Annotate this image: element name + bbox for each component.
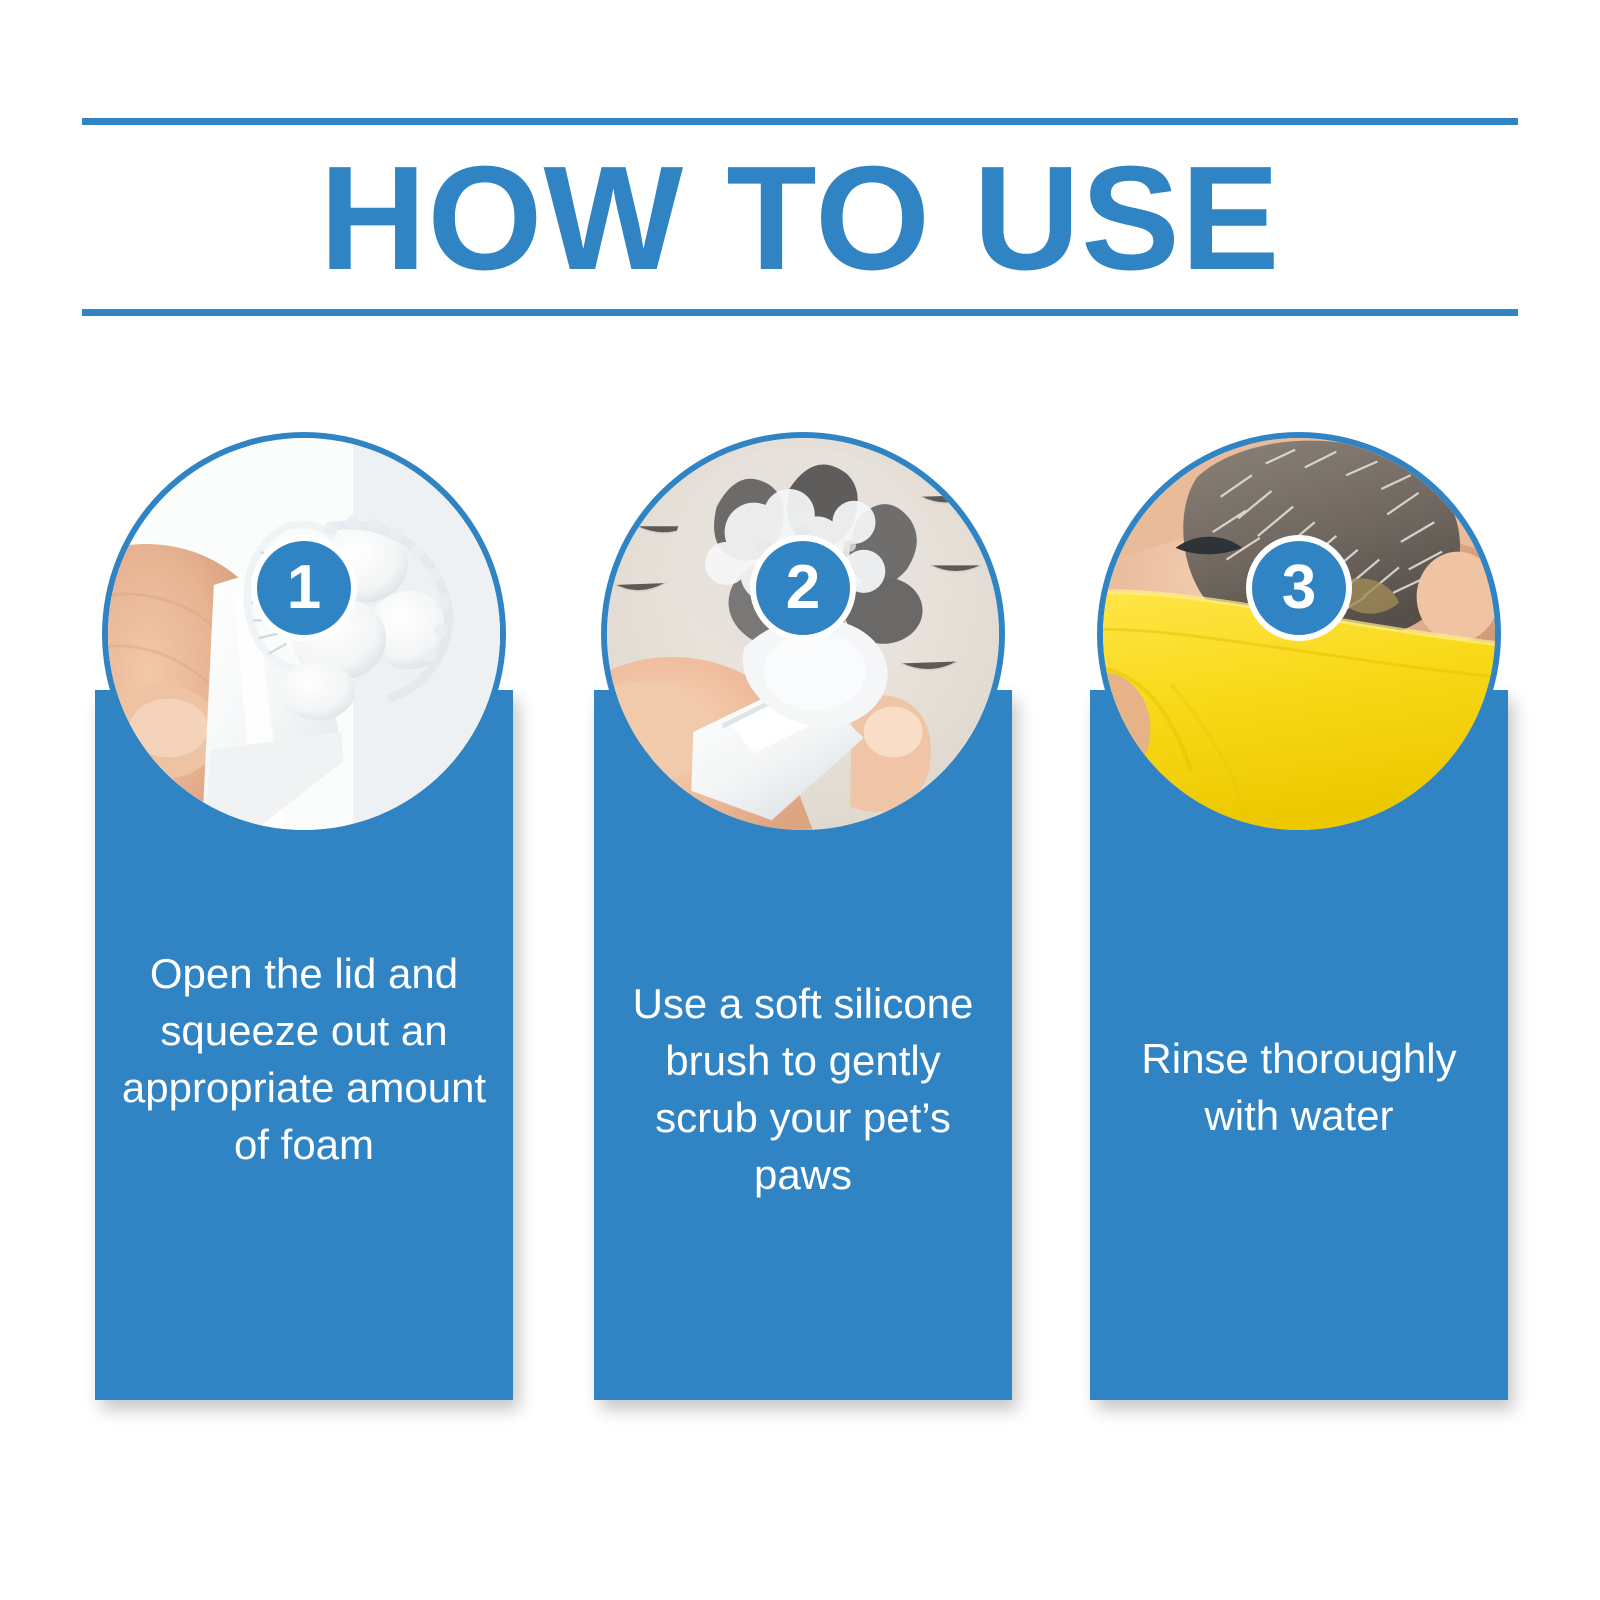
- step-photo-frame-2: 2: [601, 432, 1005, 836]
- step-caption-3: Rinse thoroughly with water: [1112, 1030, 1486, 1144]
- step-photo-frame-3: 3: [1097, 432, 1501, 836]
- step-number-badge-3: 3: [1246, 535, 1352, 641]
- step-card-2: 2 Use a soft silicone brush to gently sc…: [594, 690, 1012, 1400]
- step-caption-2: Use a soft silicone brush to gently scru…: [616, 975, 990, 1203]
- step-card-3: 3 Rinse thoroughly with water: [1090, 690, 1508, 1400]
- step-number-badge-2: 2: [750, 535, 856, 641]
- step-caption-1: Open the lid and squeeze out an appropri…: [117, 945, 491, 1173]
- step-number-badge-1: 1: [251, 535, 357, 641]
- step-card-1: 1 Open the lid and squeeze out an approp…: [95, 690, 513, 1400]
- steps-row: 1 Open the lid and squeeze out an approp…: [0, 0, 1600, 1600]
- step-photo-frame-1: 1: [102, 432, 506, 836]
- infographic-page: HOW TO USE: [0, 0, 1600, 1600]
